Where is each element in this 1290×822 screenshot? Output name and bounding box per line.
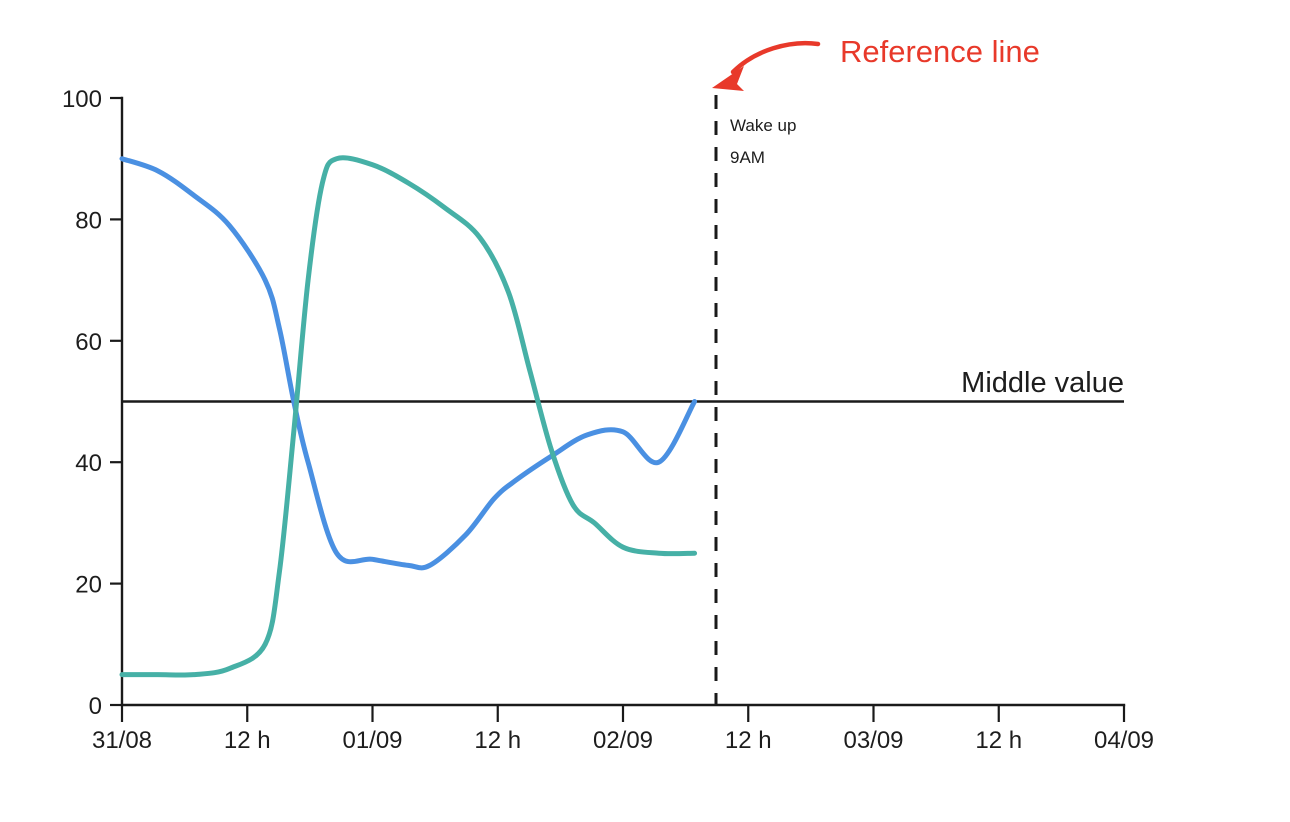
wake-up-label-line2: 9AM <box>730 148 765 167</box>
middle-value-label: Middle value <box>961 367 1124 399</box>
x-tick-label-4: 02/09 <box>593 727 653 754</box>
y-tick-label-0: 0 <box>89 693 102 720</box>
x-tick-group: 31/08 12 h 01/09 12 h 02/09 12 h 03/09 1… <box>92 705 1154 754</box>
x-tick-label-0: 31/08 <box>92 727 152 754</box>
x-tick-label-1: 12 h <box>224 727 271 754</box>
y-tick-label-40: 40 <box>75 450 102 477</box>
series-line-blue <box>122 159 695 568</box>
x-tick-label-5: 12 h <box>725 727 772 754</box>
x-tick-label-7: 12 h <box>975 727 1022 754</box>
reference-line-arrow-icon <box>712 43 818 91</box>
wake-up-label-line1: Wake up <box>730 116 796 135</box>
reference-line-callout-text: Reference line <box>840 34 1040 69</box>
y-tick-label-80: 80 <box>75 207 102 234</box>
series-line-teal <box>122 158 695 675</box>
y-tick-label-60: 60 <box>75 329 102 356</box>
y-tick-label-20: 20 <box>75 572 102 599</box>
y-tick-label-100: 100 <box>62 86 102 113</box>
x-tick-label-8: 04/09 <box>1094 727 1154 754</box>
line-chart: 0 20 40 60 80 100 31/08 12 h 01/09 12 h … <box>0 0 1290 822</box>
y-tick-group: 0 20 40 60 80 100 <box>62 86 122 720</box>
x-tick-label-3: 12 h <box>474 727 521 754</box>
x-tick-label-6: 03/09 <box>843 727 903 754</box>
x-tick-label-2: 01/09 <box>342 727 402 754</box>
chart-container: 0 20 40 60 80 100 31/08 12 h 01/09 12 h … <box>0 0 1290 822</box>
